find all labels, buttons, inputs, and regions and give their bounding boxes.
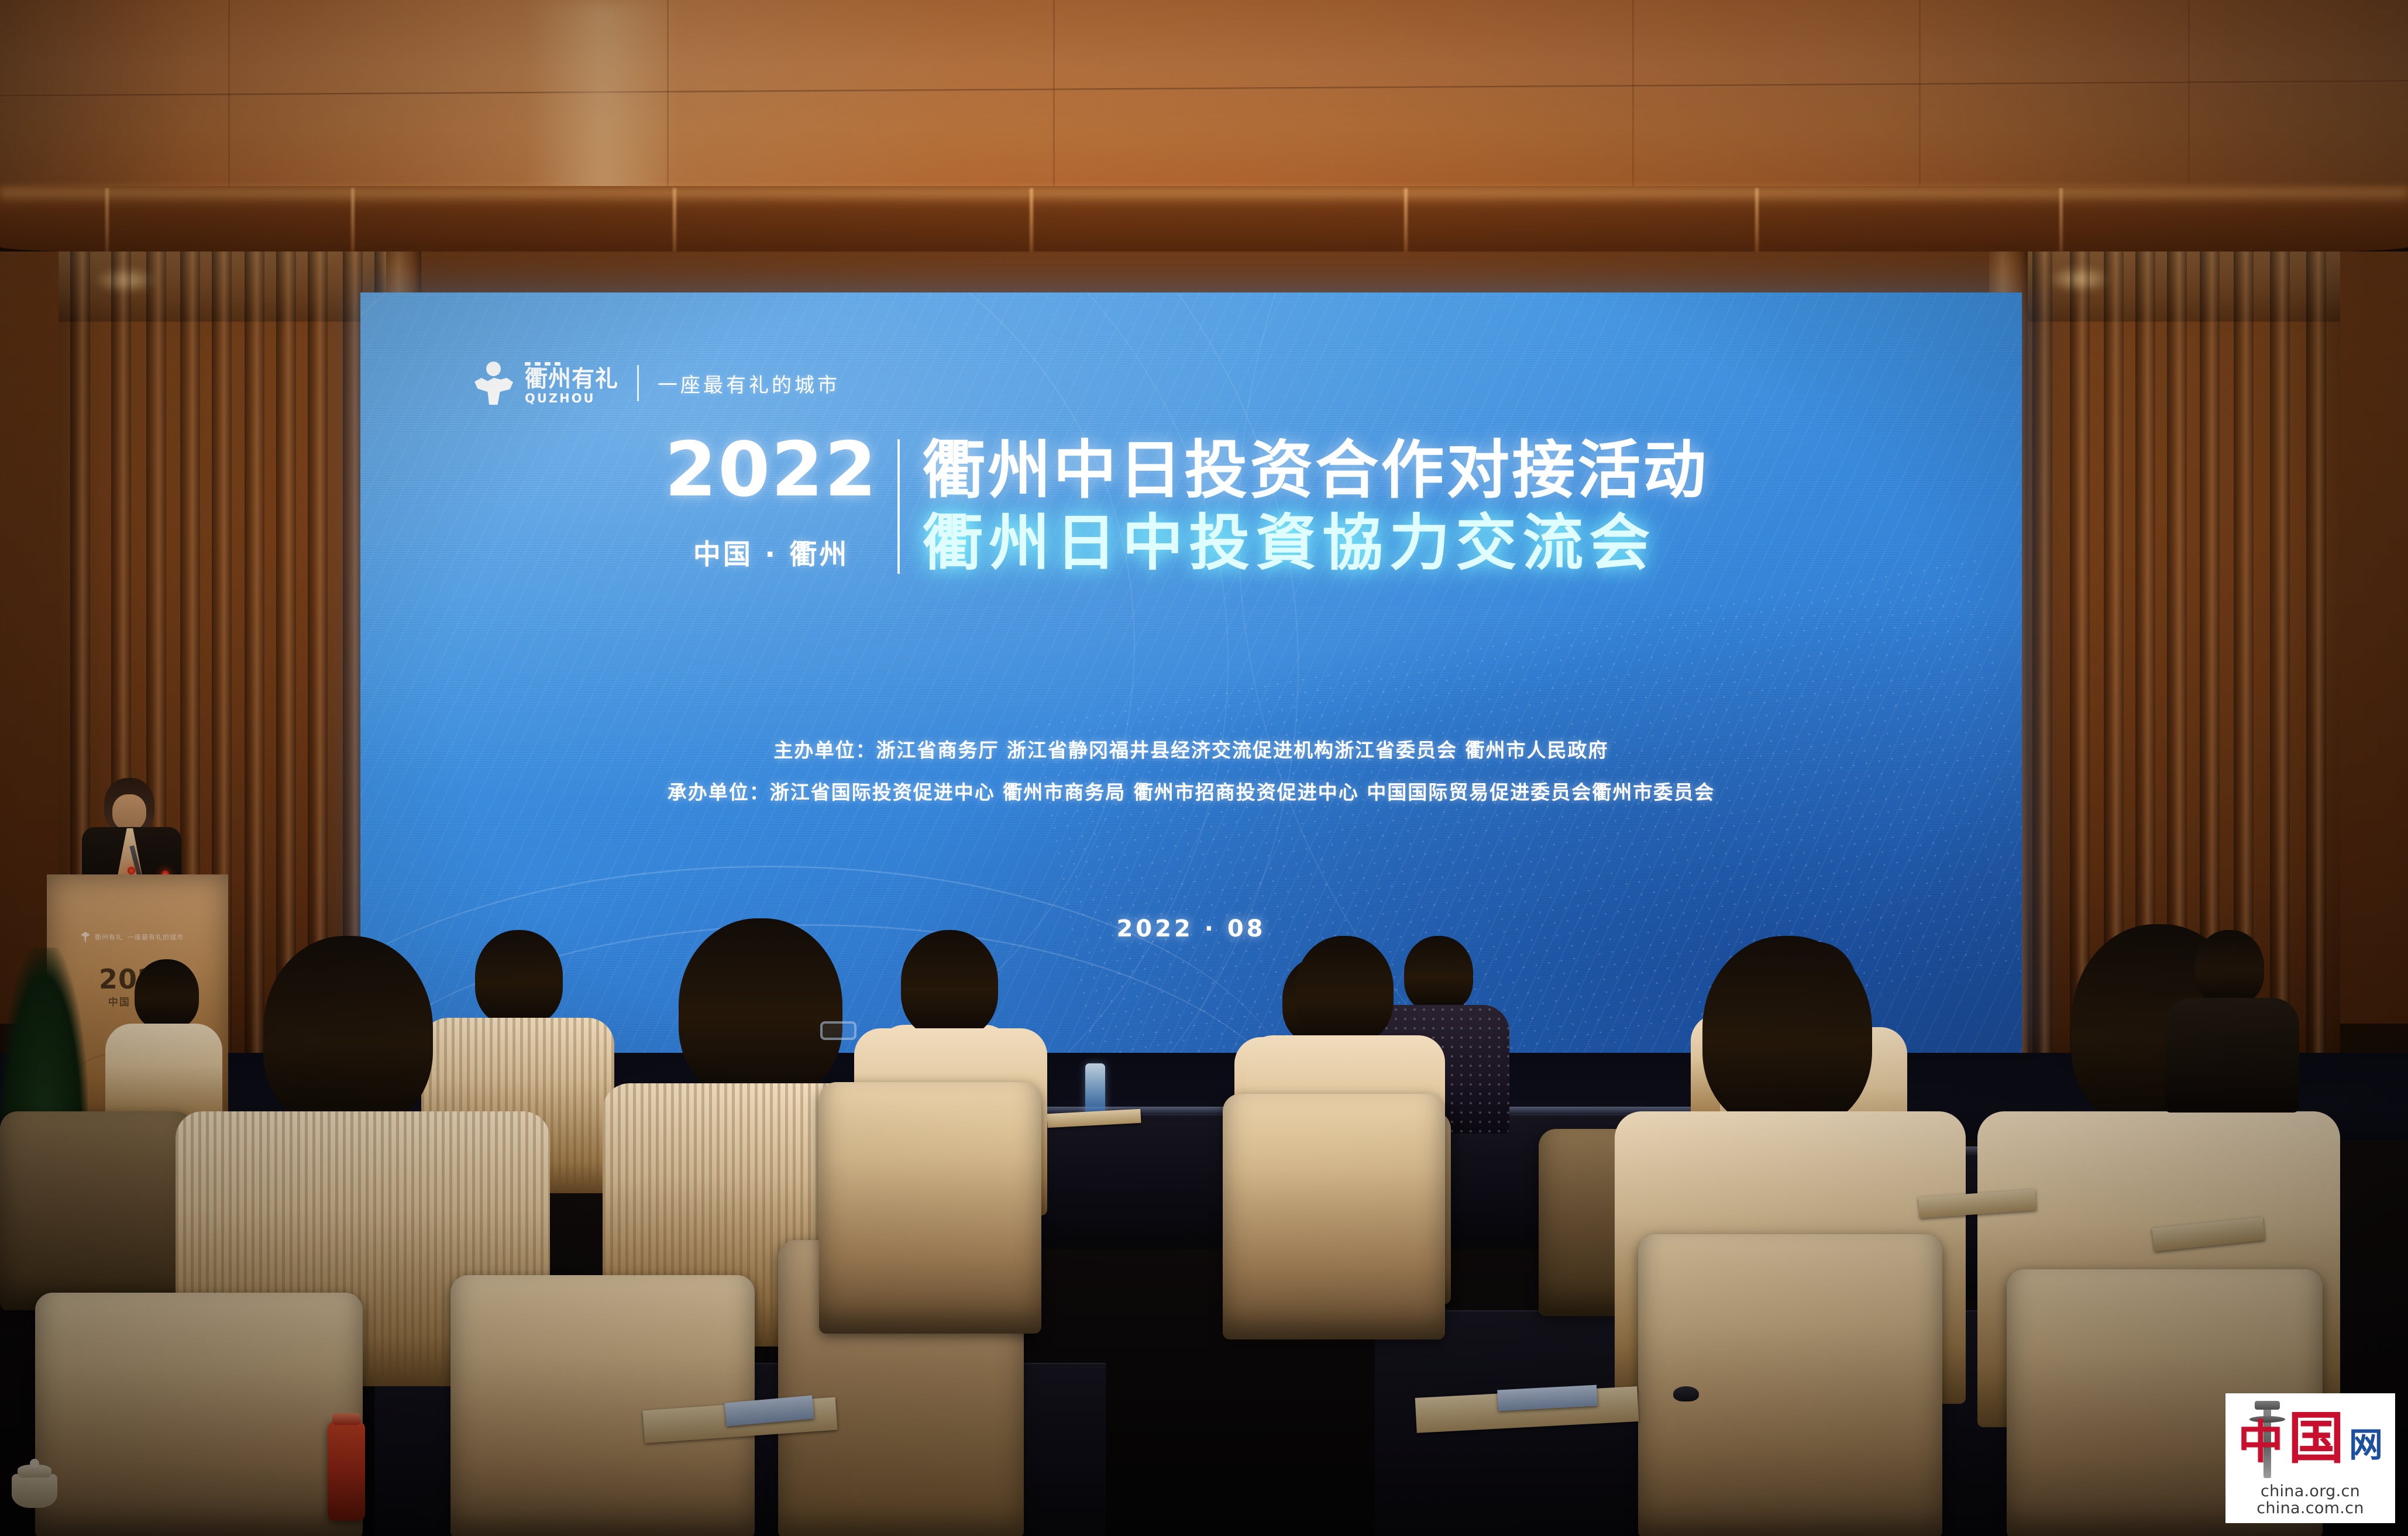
person-head [901, 930, 998, 1038]
computer-mouse [1673, 1386, 1699, 1401]
person-head [263, 936, 433, 1129]
brand-slogan: 一座最有礼的城市 [658, 369, 840, 398]
event-place: 中国 · 衢州 [693, 532, 849, 572]
brand-name-block: 衢州有礼 QUZHOU [525, 362, 618, 405]
quzhou-brand-lockup: 衢州有礼 QUZHOU 一座最有礼的城市 [474, 361, 840, 405]
event-title-japanese: 衢州日中投資協力交流会 [922, 507, 1708, 580]
conference-photo-scene: 衢州有礼 QUZHOU 一座最有礼的城市 2022 中国 · 衢州 衢州中日投资… [0, 0, 2408, 1536]
conference-chair [0, 1111, 193, 1310]
conference-chair [819, 1082, 1041, 1334]
watermark-cn-zhong: 中 [2238, 1420, 2283, 1465]
organizer-line-host: 主办单位：浙江省商务厅 浙江省静冈福井县经济交流促进机构浙江省委员会 衢州市人民… [360, 740, 2022, 761]
person-body [2165, 998, 2299, 1113]
event-title-chinese: 衢州中日投资合作对接活动 [922, 436, 1708, 507]
organizer-line-support: 承办单位：浙江省国际投资促进中心 衢州市商务局 衢州市招商投资促进中心 中国国际… [360, 782, 2022, 803]
conference-chair [35, 1293, 363, 1536]
event-year: 2022 [665, 436, 878, 505]
thermos-lid [332, 1413, 360, 1425]
organizer-lines: 主办单位：浙江省商务厅 浙江省静冈福井县经济交流促进机构浙江省委员会 衢州市人民… [360, 740, 2022, 825]
china-org-cn-watermark: 中 国 网 china.org.cn china.com.cn [2225, 1393, 2395, 1523]
conference-chair [1223, 1094, 1445, 1339]
podium-logo-icon [81, 932, 90, 942]
mic-indicator-led [128, 867, 135, 874]
brand-divider [637, 365, 639, 401]
brand-name-cn: 衢州有礼 [525, 368, 618, 391]
watermark-logo-art: 中 国 网 [2237, 1400, 2384, 1483]
event-headline-block: 2022 中国 · 衢州 衢州中日投资合作对接活动 衢州日中投資協力交流会 [665, 436, 1708, 580]
person-head [1295, 936, 1394, 1045]
headline-right-column: 衢州中日投资合作对接活动 衢州日中投資協力交流会 [900, 436, 1708, 580]
tea-cup-with-lid [12, 1474, 57, 1508]
watermark-cn-wang: 网 [2349, 1428, 2383, 1462]
red-thermos-bottle [328, 1421, 365, 1521]
headline-left-column: 2022 中国 · 衢州 [665, 436, 897, 572]
eyeglasses [820, 1021, 856, 1040]
speaker-face [112, 794, 146, 831]
brand-dots-icon [525, 362, 560, 366]
person-head [2195, 930, 2264, 1005]
watermark-url-line-1: china.org.cn [2261, 1483, 2360, 1500]
audience-member [2165, 930, 2299, 1105]
watermark-url-line-2: china.com.cn [2256, 1500, 2364, 1517]
conference-chair [1638, 1234, 1942, 1536]
podium-logo-cn: 衢州有礼 [95, 932, 123, 942]
cornice-light-strip [0, 188, 2408, 204]
person-head [679, 918, 842, 1100]
tea-cup-knob [30, 1459, 39, 1468]
person-head [1702, 936, 1872, 1129]
quzhou-city-figure-logo-icon [474, 361, 513, 405]
podium-brand-lockup: 衢州有礼 一座最有礼的城市 [81, 932, 184, 942]
watermark-cn-guo: 国 [2288, 1410, 2344, 1466]
brand-name-romanized: QUZHOU [525, 392, 596, 405]
